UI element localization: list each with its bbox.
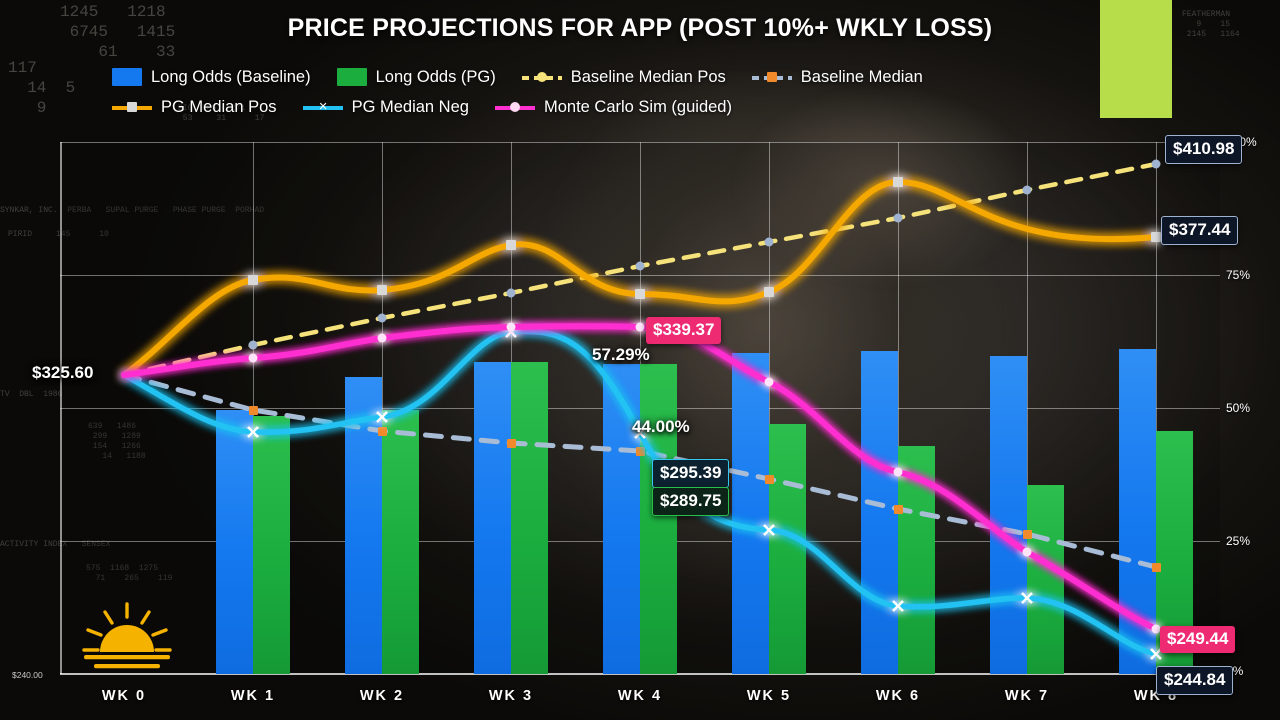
series-baseline-median xyxy=(124,375,1161,572)
annotation-pg-median-pos-end: $377.44 xyxy=(1161,216,1238,245)
legend-label: Baseline Median xyxy=(801,68,923,87)
ticker-text-8: TV DBL 1986 xyxy=(0,390,62,400)
legend-swatch-line-icon xyxy=(495,98,535,116)
legend-swatch-dashed-line-icon xyxy=(752,68,792,86)
y-tick-25: 25% xyxy=(1226,534,1250,548)
x-tick-wk4: WK 4 xyxy=(618,688,662,704)
annotation-baseline-median-pos-end: $410.98 xyxy=(1165,135,1242,164)
x-tick-wk5: WK 5 xyxy=(747,688,791,704)
legend-swatch-bar-icon xyxy=(337,68,367,86)
series-pg-median-neg xyxy=(124,327,1161,659)
line-series-overlay xyxy=(60,142,1220,674)
annotation-pct-mid: 44.00% xyxy=(625,414,697,441)
legend-item-long-odds-pg[interactable]: Long Odds (PG) xyxy=(337,68,496,87)
x-tick-wk7: WK 7 xyxy=(1005,688,1049,704)
y-axis-min-label: $240.00 xyxy=(12,670,43,680)
legend-label: PG Median Pos xyxy=(161,98,277,117)
annotation-monte-carlo-end: $249.44 xyxy=(1160,626,1235,653)
legend-label: Baseline Median Pos xyxy=(571,68,726,87)
legend-swatch-dashed-line-icon xyxy=(522,68,562,86)
chart-title: PRICE PROJECTIONS FOR APP (POST 10%+ WKL… xyxy=(0,14,1280,43)
chart-canvas: 1245 1218 6745 1415 61 33 117 14 5 9 SYN… xyxy=(0,0,1280,720)
x-tick-wk3: WK 3 xyxy=(489,688,533,704)
x-tick-wk2: WK 2 xyxy=(360,688,404,704)
legend-label: Long Odds (Baseline) xyxy=(151,68,311,87)
legend-label: Monte Carlo Sim (guided) xyxy=(544,98,732,117)
sunrise-logo-icon xyxy=(78,600,176,672)
legend-swatch-bar-icon xyxy=(112,68,142,86)
plot-area: 100% 75% 50% 25% 0% WK 0 WK 1 WK 2 WK 3 … xyxy=(60,142,1220,674)
series-monte-carlo xyxy=(124,323,1161,634)
x-tick-wk1: WK 1 xyxy=(231,688,275,704)
legend-swatch-line-icon xyxy=(112,98,152,116)
legend-swatch-line-icon: ✕ xyxy=(303,98,343,116)
legend-item-pg-median-pos[interactable]: PG Median Pos xyxy=(112,98,277,117)
ticker-text-2: 117 14 5 9 xyxy=(8,58,75,118)
legend-label: Long Odds (PG) xyxy=(376,68,496,87)
annotation-pct-high: 57.29% xyxy=(585,342,657,369)
legend-item-long-odds-baseline[interactable]: Long Odds (Baseline) xyxy=(112,68,311,87)
y-tick-75: 75% xyxy=(1226,268,1250,282)
legend-label: PG Median Neg xyxy=(352,98,469,117)
legend-item-baseline-median-pos[interactable]: Baseline Median Pos xyxy=(522,68,726,87)
annotation-monte-carlo-peak: $339.37 xyxy=(646,317,721,344)
x-tick-wk6: WK 6 xyxy=(876,688,920,704)
annotation-start-price: $325.60 xyxy=(25,360,100,387)
annotation-pg-median-neg-mid: $289.75 xyxy=(652,487,729,516)
legend-item-baseline-median[interactable]: Baseline Median xyxy=(752,68,923,87)
legend-row-1: Long Odds (Baseline) Long Odds (PG) Base… xyxy=(112,62,1152,92)
legend: Long Odds (Baseline) Long Odds (PG) Base… xyxy=(112,62,1152,122)
annotation-pg-median-neg-end: $244.84 xyxy=(1156,666,1233,695)
legend-item-monte-carlo[interactable]: Monte Carlo Sim (guided) xyxy=(495,98,732,117)
x-tick-wk0: WK 0 xyxy=(102,688,146,704)
y-tick-50: 50% xyxy=(1226,401,1250,415)
legend-row-2: PG Median Pos ✕ PG Median Neg Monte Carl… xyxy=(112,92,1152,122)
annotation-baseline-median-mid: $295.39 xyxy=(652,459,729,488)
legend-item-pg-median-neg[interactable]: ✕ PG Median Neg xyxy=(303,98,469,117)
